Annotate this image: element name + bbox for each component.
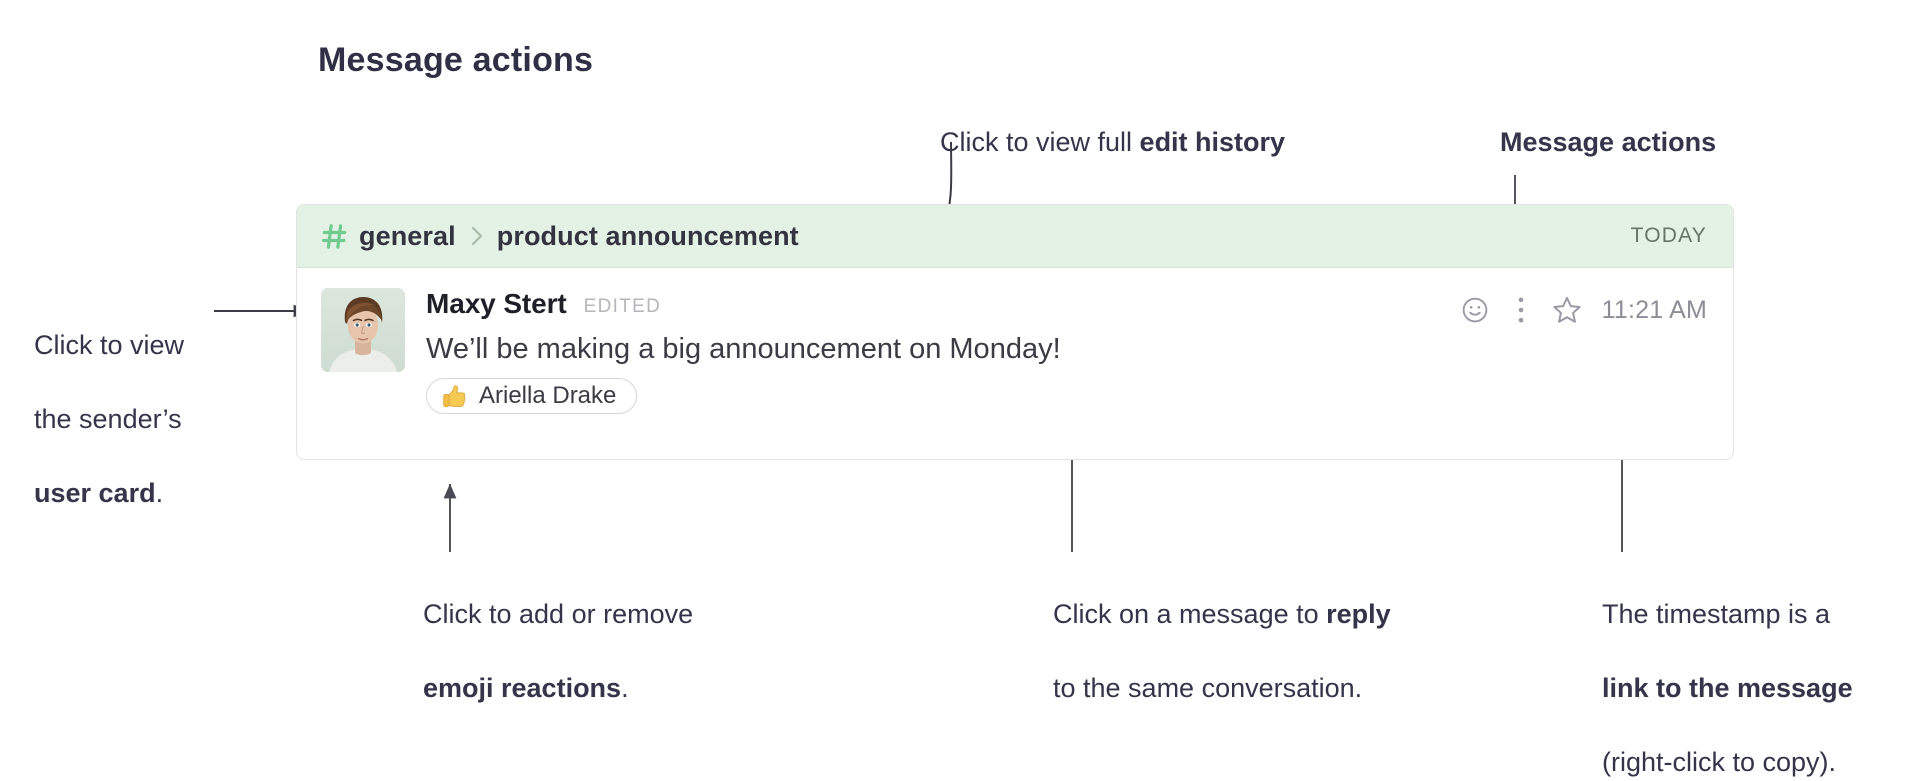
- date-label: TODAY: [1631, 224, 1707, 248]
- emoji-reaction-icon[interactable]: [1452, 290, 1498, 330]
- avatar-image: [321, 288, 405, 372]
- avatar[interactable]: [321, 288, 405, 372]
- message-text[interactable]: We’ll be making a big announcement on Mo…: [426, 331, 1707, 368]
- thumbs-up-emoji-icon: [441, 383, 468, 410]
- topic-name[interactable]: product announcement: [497, 221, 799, 252]
- message-card: general product announcement TODAY: [296, 204, 1734, 460]
- message-timestamp-link[interactable]: 11:21 AM: [1602, 296, 1707, 325]
- annotation-emphasis: link to the message: [1602, 673, 1853, 703]
- annotation-line: (right-click to copy).: [1602, 747, 1836, 777]
- annotation-line: Click to view full: [940, 127, 1140, 157]
- annotation-user-card: Click to view the sender’s user card.: [34, 290, 264, 512]
- star-icon[interactable]: [1544, 290, 1590, 330]
- annotation-line: to the same conversation.: [1053, 673, 1362, 703]
- reaction-pill[interactable]: Ariella Drake: [426, 378, 637, 414]
- page-title: Message actions: [318, 41, 593, 80]
- annotation-emphasis: user card: [34, 478, 156, 508]
- message-row[interactable]: Maxy Stert EDITED We’ll be making a big …: [297, 268, 1733, 414]
- annotation-emphasis: emoji reactions: [423, 673, 621, 703]
- channel-header: general product announcement TODAY: [297, 205, 1733, 268]
- annotation-emphasis: Message actions: [1500, 127, 1716, 157]
- chevron-right-icon: [470, 224, 485, 248]
- reaction-user-name: Ariella Drake: [479, 382, 616, 410]
- vertical-dots-icon[interactable]: [1498, 290, 1544, 330]
- annotation-line: .: [621, 673, 629, 703]
- annotation-line: .: [156, 478, 164, 508]
- annotation-line: The timestamp is a: [1602, 599, 1830, 629]
- annotation-line: Click to add or remove: [423, 599, 693, 629]
- hash-icon: [321, 223, 348, 250]
- channel-name[interactable]: general: [359, 221, 456, 252]
- reaction-row: Ariella Drake: [426, 378, 1707, 414]
- annotation-timestamp: The timestamp is a link to the message (…: [1602, 559, 1922, 781]
- annotation-emoji-reactions: Click to add or remove emoji reactions.: [423, 559, 783, 707]
- annotation-emphasis: edit history: [1140, 127, 1286, 157]
- annotation-emphasis: reply: [1326, 599, 1391, 629]
- annotation-line: Click to view: [34, 330, 184, 360]
- annotation-line: Click on a message to: [1053, 599, 1326, 629]
- annotation-reply: Click on a message to reply to the same …: [1053, 559, 1453, 707]
- edited-badge[interactable]: EDITED: [584, 296, 661, 318]
- annotation-line: the sender’s: [34, 404, 182, 434]
- message-actions-toolbar: 11:21 AM: [1452, 290, 1707, 330]
- sender-name[interactable]: Maxy Stert: [426, 288, 567, 320]
